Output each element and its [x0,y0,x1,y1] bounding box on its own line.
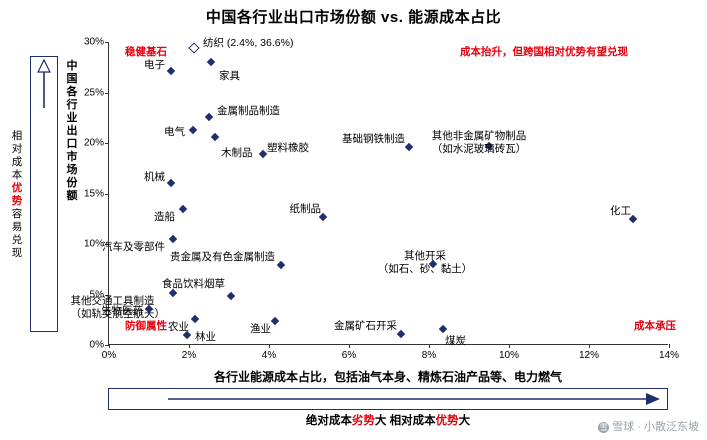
data-point-label: 金属制品制造 [217,105,280,118]
data-point [169,235,177,243]
x-axis-tickmark [509,344,510,348]
data-point-label: 木制品 [221,147,253,160]
data-point [207,58,215,66]
data-point [179,204,187,212]
data-point [259,150,267,158]
data-point-label: 煤炭 [445,335,466,348]
cost-advantage-note: 绝对成本劣势大 相对成本优势大 [108,412,668,428]
data-point [277,261,285,269]
x-axis-tickmark [109,344,110,348]
chart-page: 中国各行业出口市场份额 vs. 能源成本占比 中国各行业出口市场份额 相对成本优… [0,0,707,440]
data-point-label: 食品饮料烟草 [162,278,225,291]
data-point-label: 其他非金属矿物制品 （如水泥玻璃砖瓦） [432,130,527,155]
cost-advantage-arrow [108,388,668,410]
x-axis-tickmark [589,344,590,348]
data-point [167,179,175,187]
x-axis-tick: 0% [102,350,116,361]
data-point-label: 化工 [610,205,631,218]
data-point-label: 汽车及零部件 [102,241,165,254]
data-point-label: 机械 [144,171,165,184]
data-point-label: 其他开采 （如石、砂、黏土） [378,250,473,275]
data-point-label: 塑料橡胶 [267,142,309,155]
x-axis-tick: 14% [659,350,679,361]
data-point-label: 贵金属及有色金属制造 [170,251,275,264]
note-part-1: 绝对成本 [306,415,352,427]
data-point-label: 金属矿石开采 [334,320,397,333]
data-point [167,67,175,75]
page-title: 中国各行业出口市场份额 vs. 能源成本占比 [0,6,707,27]
data-point-label: 家具 [219,70,240,83]
y-axis-tick: 25% [84,87,104,98]
data-point-label: 渔业 [250,323,271,336]
x-axis-title: 各行业能源成本占比，包括油气本身、精炼石油产品等、电力燃气 [108,368,668,385]
y-axis-tick: 20% [84,138,104,149]
x-axis-tick: 2% [182,350,196,361]
scatter-plot-area: 0%5%10%15%20%25%30%0%2%4%6%8%10%12%14%纺织… [108,42,668,345]
y-axis-tickmark [105,194,109,195]
x-axis-tickmark [189,344,190,348]
data-point-label: 纸制品 [290,203,322,216]
data-point-label: 生物医药 [101,305,143,318]
y-axis-tick: 10% [84,239,104,250]
note-part-red1: 劣势 [352,415,375,427]
relative-advantage-label: 相对成本优势容易兑现 [6,130,28,260]
data-point-label: 电气 [164,126,185,139]
x-axis-tickmark [349,344,350,348]
data-point-label: 林业 [195,331,216,344]
data-point [205,112,213,120]
watermark-icon: 雪 [598,422,609,433]
data-point-label: 电子 [144,59,165,72]
y-axis-tickmark [105,93,109,94]
y-axis-tickmark [105,143,109,144]
x-axis-tick: 8% [422,350,436,361]
x-axis-tickmark [669,344,670,348]
note-part-3: 大 [459,415,471,427]
data-point [188,42,199,53]
y-axis-tick: 0% [90,340,104,351]
watermark: 雪雪球 · 小散泛东坡 [598,418,699,434]
data-point [191,314,199,322]
y-axis-tick: 30% [84,37,104,48]
data-point-label: 基础钢铁制造 [342,133,405,146]
watermark-text: 雪球 · 小散泛东坡 [612,421,699,433]
data-point [227,291,235,299]
x-axis-tick: 6% [342,350,356,361]
data-point-label: 造船 [154,211,175,224]
data-point [271,317,279,325]
data-point [169,289,177,297]
x-axis-tick: 10% [499,350,519,361]
data-point [183,331,191,339]
data-point [405,143,413,151]
data-point-label: 纺织 (2.4%, 36.6%) [203,37,293,50]
data-point [397,330,405,338]
y-axis-tickmark [105,42,109,43]
note-part-red2: 优势 [436,415,459,427]
data-point [439,325,447,333]
x-axis-tickmark [269,344,270,348]
note-part-2: 大 相对成本 [375,415,436,427]
data-point [211,133,219,141]
relative-advantage-arrow [30,56,58,332]
y-axis-title: 中国各行业出口市场份额 [64,60,80,203]
x-axis-tick: 12% [579,350,599,361]
data-point [189,126,197,134]
x-axis-tick: 4% [262,350,276,361]
x-axis-tickmark [429,344,430,348]
y-axis-tick: 15% [84,188,104,199]
